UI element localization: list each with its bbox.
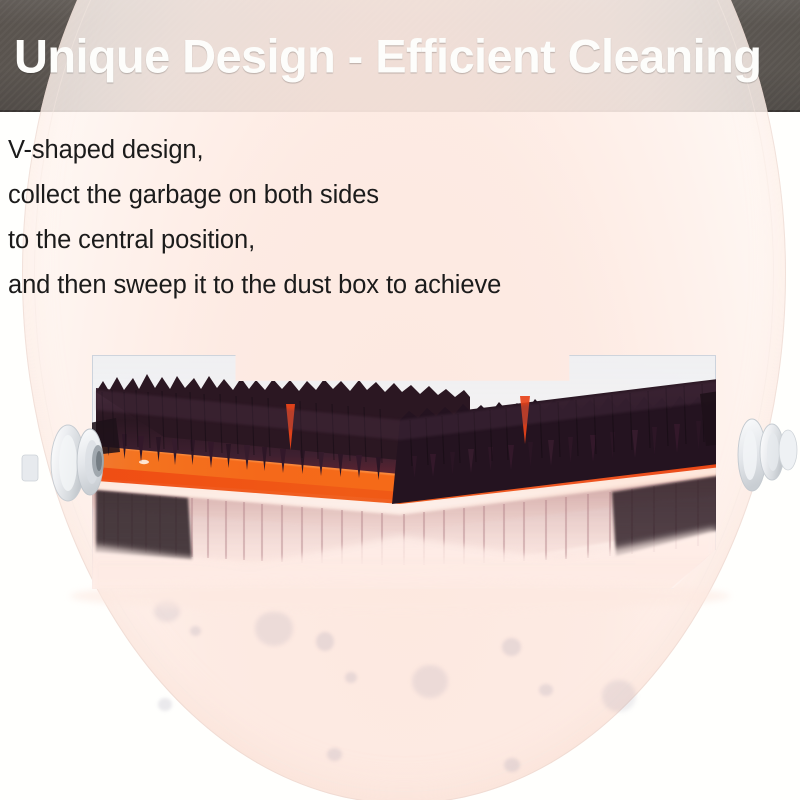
dust-speck <box>316 632 334 651</box>
dust-speck <box>154 600 180 622</box>
description-line-3: to the central position, <box>8 218 728 263</box>
dust-speck <box>255 611 293 646</box>
description-line-4: and then sweep it to the dust box to ach… <box>8 263 728 308</box>
description-line-1: V-shaped design, <box>8 128 728 173</box>
page-title: Unique Design - Efficient Cleaning <box>14 29 761 84</box>
dust-speck <box>327 748 342 761</box>
dust-speck <box>158 698 172 711</box>
description-line-2: collect the garbage on both sides <box>8 173 728 218</box>
dust-speck <box>345 672 357 683</box>
dust-speck <box>502 638 521 656</box>
dust-speck <box>412 665 448 698</box>
product-infographic: Unique Design - Efficient Cleaning V-sha… <box>0 0 800 800</box>
dust-speck <box>602 680 636 712</box>
dust-speck <box>539 684 553 696</box>
product-photo-plate-tint <box>92 355 716 589</box>
description-text: V-shaped design, collect the garbage on … <box>8 128 728 308</box>
dust-speck <box>504 758 520 772</box>
dust-speck <box>190 626 201 636</box>
